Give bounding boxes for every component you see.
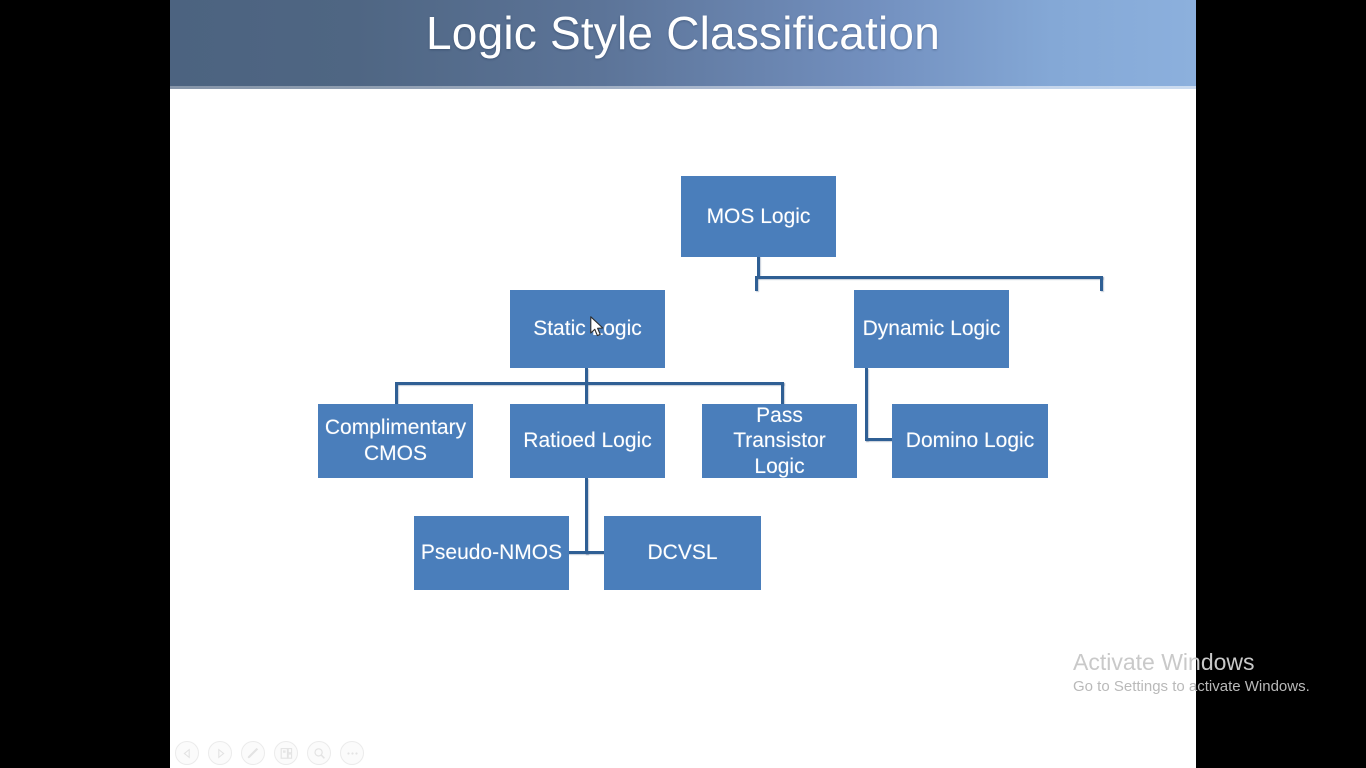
chevron-left-icon bbox=[182, 748, 193, 759]
node-domino-logic[interactable]: Domino Logic bbox=[892, 404, 1048, 478]
zoom-button[interactable] bbox=[307, 741, 331, 765]
more-options-button[interactable] bbox=[340, 741, 364, 765]
presenter-toolbar bbox=[175, 741, 364, 765]
previous-slide-button[interactable] bbox=[175, 741, 199, 765]
connector-level1-bus bbox=[755, 276, 1103, 279]
connector-level2-bus bbox=[395, 382, 784, 385]
magnifier-icon bbox=[313, 747, 326, 760]
letterbox-right bbox=[1196, 0, 1366, 768]
presentation-slide[interactable]: Logic Style Classification MOS Logic bbox=[170, 0, 1196, 768]
ellipsis-icon bbox=[346, 751, 359, 756]
connector-ratioed-down bbox=[585, 478, 588, 554]
connector-mos-down-stub bbox=[757, 256, 760, 278]
connector-bus-to-passtransistor bbox=[781, 382, 784, 404]
node-complimentary-cmos[interactable]: Complimentary CMOS bbox=[318, 404, 473, 478]
node-ratioed-logic[interactable]: Ratioed Logic bbox=[510, 404, 665, 478]
chevron-right-icon bbox=[215, 748, 226, 759]
pen-icon bbox=[246, 746, 260, 760]
node-static-logic[interactable]: Static Logic bbox=[510, 290, 665, 368]
node-dynamic-logic[interactable]: Dynamic Logic bbox=[854, 290, 1009, 368]
connector-bus-to-ratioed bbox=[585, 382, 588, 404]
all-slides-button[interactable] bbox=[274, 741, 298, 765]
connector-bus-to-dynamic bbox=[1100, 276, 1103, 291]
letterbox-left bbox=[0, 0, 170, 768]
connector-bus-to-cmos bbox=[395, 382, 398, 404]
slideshow-screen: Logic Style Classification MOS Logic bbox=[0, 0, 1366, 768]
connector-dynamic-down bbox=[865, 368, 868, 441]
slide-grid-icon bbox=[280, 747, 293, 760]
pen-tool-button[interactable] bbox=[241, 741, 265, 765]
node-dcvsl[interactable]: DCVSL bbox=[604, 516, 761, 590]
next-slide-button[interactable] bbox=[208, 741, 232, 765]
node-pass-transistor-logic[interactable]: Pass Transistor Logic bbox=[702, 404, 857, 478]
connector-dynamic-to-domino bbox=[865, 438, 892, 441]
connector-bus-to-static bbox=[755, 276, 758, 291]
node-mos-logic[interactable]: MOS Logic bbox=[681, 176, 836, 257]
node-pseudo-nmos[interactable]: Pseudo-NMOS bbox=[414, 516, 569, 590]
logic-style-classification-diagram: MOS Logic Static Logic Dynamic Logic Com… bbox=[170, 0, 1196, 768]
